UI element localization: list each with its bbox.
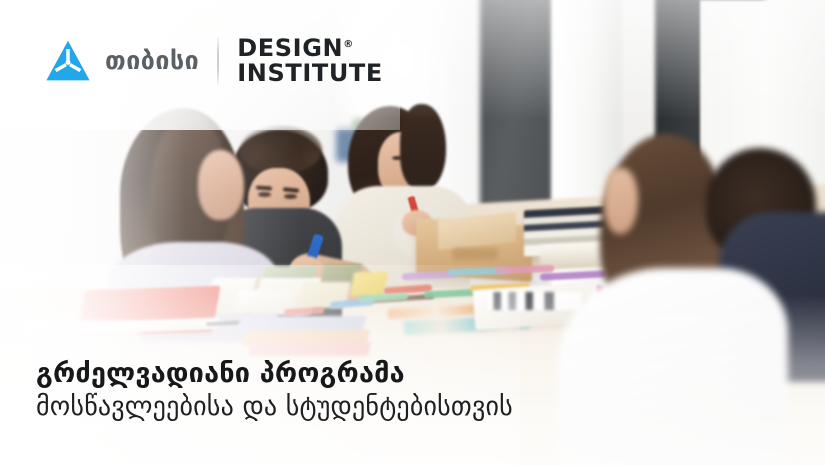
swatch-yellow [350,272,388,296]
registered-mark-icon: ® [343,39,354,50]
student-girl-left-face [198,150,244,220]
student-boy-curls [240,126,322,174]
logo-divider [217,37,219,85]
design-institute-line-1: DESIGN® [237,36,383,61]
logo-lockup[interactable]: თიბისი DESIGN® INSTITUTE [45,36,383,86]
design-institute-line-2: INSTITUTE [237,61,383,86]
tbc-wordmark: თიბისი [105,48,199,73]
headline-primary: გრძელვადიანი პროგრამა [36,358,513,390]
foreground-woman-body [558,268,788,465]
student-boy-eye-left [258,192,271,197]
design-institute-wordmark: DESIGN® INSTITUTE [237,36,383,86]
tbc-triangle-logo [45,39,91,83]
headline-secondary: მოსწავლეებისა და სტუდენტებისთვის [36,392,513,423]
promo-banner: თიბისი DESIGN® INSTITUTE გრძელვადიანი პრ… [0,0,825,465]
paper-sheet-left [20,318,141,352]
swatch-pink [248,342,371,356]
design-text: DESIGN [237,34,343,62]
student-boy-eye-right [284,194,297,199]
student-girl-right-hair-front [400,104,446,190]
foreground-woman-face [604,168,638,234]
wooden-crate-grain [452,248,498,260]
headline-block: გრძელვადიანი პროგრამა მოსწავლეებისა და ს… [36,358,513,423]
printed-sheet-thumbnails [488,292,582,310]
